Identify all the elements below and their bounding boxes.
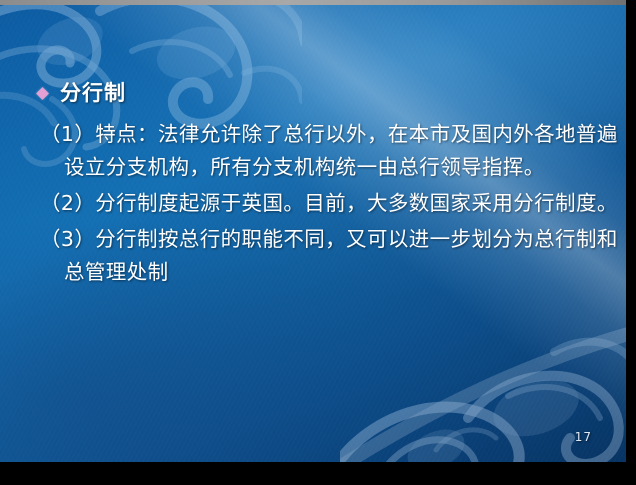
slide-canvas: 分行制 （1）特点：法律允许除了总行以外，在本市及国内外各地普遍设立分支机构，所… [0, 5, 626, 462]
slide-body: （1）特点：法律允许除了总行以外，在本市及国内外各地普遍设立分支机构，所有分支机… [40, 118, 618, 292]
body-paragraph-2: （2）分行制度起源于英国。目前，大多数国家采用分行制度。 [40, 187, 618, 220]
body-paragraph-1: （1）特点：法律允许除了总行以外，在本市及国内外各地普遍设立分支机构，所有分支机… [40, 118, 618, 184]
page-number: 17 [575, 430, 592, 444]
window-bottom-gutter [0, 462, 636, 485]
slide-title-row: 分行制 [38, 83, 126, 104]
body-paragraph-3: （3）分行制按总行的职能不同，又可以进一步划分为总行制和总管理处制 [40, 223, 618, 289]
presentation-viewport: 分行制 （1）特点：法律允许除了总行以外，在本市及国内外各地普遍设立分支机构，所… [0, 0, 636, 485]
slide-content: 分行制 （1）特点：法律允许除了总行以外，在本市及国内外各地普遍设立分支机构，所… [0, 5, 626, 462]
slide-title: 分行制 [60, 83, 126, 104]
window-right-gutter [626, 0, 636, 485]
diamond-bullet-icon [36, 87, 49, 100]
